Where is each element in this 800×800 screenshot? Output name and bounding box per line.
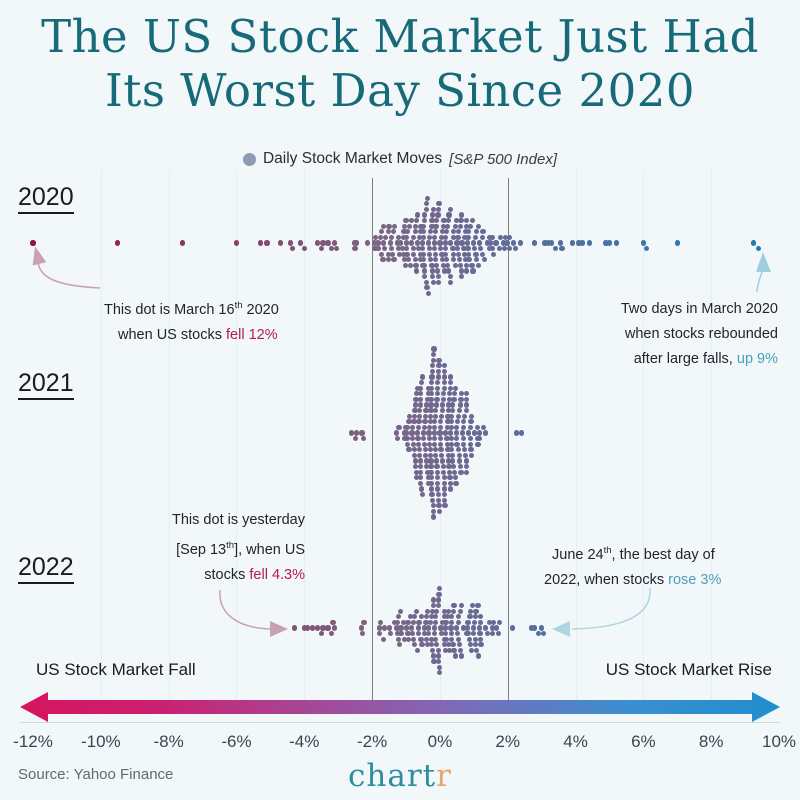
- swarm-dot-2022: [433, 620, 438, 625]
- swarm-dot-2021: [477, 436, 482, 441]
- swarm-dot-2021: [469, 414, 474, 419]
- swarm-dot-2022: [456, 614, 461, 619]
- swarm-dot-2021: [442, 503, 447, 508]
- band-line: [101, 170, 102, 715]
- swarm-dot-2021: [443, 430, 448, 435]
- swarm-dot-2022: [410, 631, 415, 636]
- swarm-dot-2021: [405, 442, 410, 447]
- swarm-dot-2021: [452, 391, 457, 396]
- swarm-dot-2021: [455, 419, 460, 424]
- swarm-dot-2022: [497, 620, 502, 625]
- swarm-dot-2020: [433, 229, 438, 234]
- swarm-dot-2020: [580, 240, 585, 245]
- swarm-dot-2021: [448, 486, 453, 491]
- swarm-dot-2021: [433, 408, 438, 413]
- swarm-dot-2022: [449, 614, 454, 619]
- swarm-dot-2020: [422, 274, 427, 279]
- swarm-dot-2021: [448, 481, 453, 486]
- swarm-dot-2022: [443, 620, 448, 625]
- axis-tick-neg10pct: -10%: [81, 732, 121, 752]
- swarm-dot-2020: [434, 218, 439, 223]
- swarm-dot-2022: [456, 637, 461, 642]
- swarm-dot-2021: [419, 486, 424, 491]
- swarm-dot-2020: [504, 240, 509, 245]
- swarm-dot-2020: [319, 246, 324, 251]
- swarm-dot-2022: [456, 620, 461, 625]
- swarm-dot-2021: [435, 486, 440, 491]
- swarm-dot-2021: [432, 419, 437, 424]
- swarm-dot-2022: [467, 637, 472, 642]
- swarm-dot-2022: [466, 620, 471, 625]
- swarm-dot-2020: [352, 246, 357, 251]
- swarm-dot-2020: [466, 229, 471, 234]
- swarm-dot-2020: [422, 218, 427, 223]
- annotation-rebound-line3: after large falls,: [634, 351, 737, 367]
- swarm-dot-2022: [434, 609, 439, 614]
- swarm-dot-2022: [470, 603, 475, 608]
- swarm-dot-2021: [435, 386, 440, 391]
- swarm-dot-2021: [436, 358, 441, 363]
- swarm-dot-2022: [453, 653, 458, 658]
- swarm-dot-2022: [477, 625, 482, 630]
- swarm-dot-2020: [456, 252, 461, 257]
- swarm-dot-2022: [433, 637, 438, 642]
- swarm-dot-2020: [507, 246, 512, 251]
- swarm-dot-2020: [426, 240, 431, 245]
- swarm-dot-2022: [471, 631, 476, 636]
- swarm-dot-2022: [397, 642, 402, 647]
- swarm-dot-2021: [419, 380, 424, 385]
- swarm-dot-2020: [180, 240, 185, 245]
- swarm-dot-2020: [414, 268, 419, 273]
- swarm-dot-2022: [325, 625, 330, 630]
- swarm-dot-2021: [453, 386, 458, 391]
- swarm-dot-2021: [454, 436, 459, 441]
- reference-line--2: [372, 178, 373, 708]
- swarm-dot-2020: [325, 240, 330, 245]
- swarm-dot-2022: [388, 631, 393, 636]
- annotation-yesterday-line1: This dot is yesterday: [150, 508, 305, 533]
- swarm-dot-2020: [389, 246, 394, 251]
- swarm-dot-2020: [421, 263, 426, 268]
- swarm-dot-2022: [415, 648, 420, 653]
- swarm-dot-2021: [418, 464, 423, 469]
- swarm-dot-2021: [461, 425, 466, 430]
- swarm-dot-2020: [334, 246, 339, 251]
- swarm-dot-2022: [409, 625, 414, 630]
- swarm-dot-2020: [477, 240, 482, 245]
- swarm-dot-2020: [445, 263, 450, 268]
- axis-tick-8pct: 8%: [699, 732, 724, 752]
- swarm-dot-2021: [477, 430, 482, 435]
- swarm-dot-2021: [418, 470, 423, 475]
- swarm-dot-2022: [329, 631, 334, 636]
- swarm-dot-2021: [441, 391, 446, 396]
- swarm-dot-2020: [507, 235, 512, 240]
- swarm-dot-2022: [478, 614, 483, 619]
- swarm-dot-2020: [756, 246, 761, 251]
- swarm-dot-2022: [432, 625, 437, 630]
- swarm-dot-2021: [447, 391, 452, 396]
- swarm-dot-2020: [264, 240, 269, 245]
- chartr-logo-main: chart: [348, 758, 436, 794]
- swarm-dot-2022: [494, 625, 499, 630]
- swarm-dot-2020: [473, 235, 478, 240]
- swarm-dot-2021: [456, 447, 461, 452]
- swarm-dot-2021: [418, 386, 423, 391]
- swarm-dot-2020: [421, 252, 426, 257]
- swarm-dot-2022: [359, 625, 364, 630]
- swarm-dot-2022: [465, 625, 470, 630]
- swarm-dot-2021: [456, 414, 461, 419]
- swarm-dot-2020: [473, 252, 478, 257]
- swarm-dot-2022: [451, 603, 456, 608]
- direction-label-fall: US Stock Market Fall: [36, 660, 196, 680]
- band-line: [576, 170, 577, 715]
- swarm-dot-2020: [493, 240, 498, 245]
- swarm-dot-2020: [466, 257, 471, 262]
- swarm-dot-2021: [431, 503, 436, 508]
- swarm-dot-2021: [450, 408, 455, 413]
- swarm-dot-2020: [480, 252, 485, 257]
- swarm-dot-2021: [422, 419, 427, 424]
- swarm-dot-2021: [454, 442, 459, 447]
- annotation-march-16-line1: This dot is March 16: [104, 302, 235, 318]
- swarm-dot-2020: [446, 218, 451, 223]
- swarm-dot-2020: [751, 240, 756, 245]
- swarm-dot-2021: [421, 430, 426, 435]
- swarm-dot-2020: [406, 257, 411, 262]
- swarm-dot-2021: [461, 419, 466, 424]
- swarm-dot-2020: [388, 240, 393, 245]
- swarm-dot-2021: [442, 386, 447, 391]
- swarm-dot-2020: [379, 252, 384, 257]
- swarm-dot-2020: [424, 280, 429, 285]
- swarm-dot-2021: [422, 425, 427, 430]
- reference-line-2: [508, 178, 509, 708]
- swarm-dot-2020: [390, 252, 395, 257]
- swarm-dot-2020: [641, 240, 646, 245]
- swarm-dot-2022: [458, 609, 463, 614]
- swarm-dot-2022: [319, 631, 324, 636]
- annotation-yesterday-line3: stocks: [204, 567, 249, 583]
- swarm-dot-2020: [414, 218, 419, 223]
- swarm-dot-2021: [442, 363, 447, 368]
- swarm-dot-2021: [442, 486, 447, 491]
- annotation-june-24: June 24th, the best day of 2022, when st…: [552, 538, 721, 593]
- swarm-dot-2021: [421, 436, 426, 441]
- swarm-dot-2021: [460, 430, 465, 435]
- swarm-dot-2021: [418, 402, 423, 407]
- swarm-dot-2021: [433, 414, 438, 419]
- swarm-dot-2022: [396, 637, 401, 642]
- swarm-dot-2021: [469, 453, 474, 458]
- swarm-dot-2021: [442, 374, 447, 379]
- swarm-dot-2021: [418, 481, 423, 486]
- swarm-dot-2020: [415, 240, 420, 245]
- swarm-dot-2021: [468, 419, 473, 424]
- swarm-dot-2020: [437, 240, 442, 245]
- swarm-dot-2020: [30, 240, 35, 245]
- swarm-dot-2020: [278, 240, 283, 245]
- swarm-dot-2020: [464, 218, 469, 223]
- swarm-dot-2020: [421, 257, 426, 262]
- swarm-dot-2020: [408, 263, 413, 268]
- swarm-dot-2021: [454, 430, 459, 435]
- swarm-dot-2020: [415, 212, 420, 217]
- swarm-dot-2020: [498, 235, 503, 240]
- swarm-dot-2021: [442, 481, 447, 486]
- swarm-dot-2022: [377, 631, 382, 636]
- swarm-dot-2020: [425, 196, 430, 201]
- swarm-dot-2020: [474, 229, 479, 234]
- swarm-dot-2020: [427, 252, 432, 257]
- swarm-dot-2022: [455, 631, 460, 636]
- swarm-dot-2022: [450, 642, 455, 647]
- swarm-dot-2021: [464, 470, 469, 475]
- swarm-dot-2020: [392, 224, 397, 229]
- swarm-dot-2020: [570, 240, 575, 245]
- axis-tick-2pct: 2%: [495, 732, 520, 752]
- swarm-dot-2021: [468, 425, 473, 430]
- annotation-yesterday: This dot is yesterday [Sep 13th], when U…: [150, 508, 305, 588]
- swarm-dot-2020: [549, 240, 554, 245]
- swarm-dot-2020: [443, 240, 448, 245]
- annotation-yesterday-line2: [Sep 13: [176, 542, 226, 558]
- swarm-dot-2022: [437, 665, 442, 670]
- swarm-dot-2021: [416, 442, 421, 447]
- swarm-dot-2021: [432, 430, 437, 435]
- swarm-dot-2021: [442, 369, 447, 374]
- swarm-dot-2021: [430, 498, 435, 503]
- swarm-dot-2020: [444, 229, 449, 234]
- swarm-dot-2020: [398, 240, 403, 245]
- swarm-dot-2020: [607, 240, 612, 245]
- swarm-dot-2020: [383, 235, 388, 240]
- swarm-dot-2020: [465, 246, 470, 251]
- annotation-yesterday-line2b: ], when US: [234, 542, 305, 558]
- swarm-dot-2020: [298, 240, 303, 245]
- swarm-dot-2021: [447, 470, 452, 475]
- swarm-dot-2022: [398, 609, 403, 614]
- swarm-dot-2021: [429, 475, 434, 480]
- swarm-dot-2020: [332, 240, 337, 245]
- swarm-dot-2022: [458, 648, 463, 653]
- swarm-dot-2020: [558, 240, 563, 245]
- swarm-dot-2020: [451, 257, 456, 262]
- annotation-june-24-highlight: rose 3%: [668, 572, 721, 588]
- swarm-dot-2021: [417, 447, 422, 452]
- swarm-dot-2021: [454, 425, 459, 430]
- swarm-dot-2021: [418, 397, 423, 402]
- swarm-dot-2020: [258, 240, 263, 245]
- swarm-dot-2020: [404, 235, 409, 240]
- swarm-dot-2021: [429, 380, 434, 385]
- swarm-dot-2021: [461, 442, 466, 447]
- swarm-dot-2020: [458, 218, 463, 223]
- swarm-dot-2022: [387, 625, 392, 630]
- swarm-dot-2020: [434, 263, 439, 268]
- swarm-dot-2022: [467, 614, 472, 619]
- swarm-dot-2020: [379, 229, 384, 234]
- swarm-dot-2021: [416, 425, 421, 430]
- swarm-dot-2020: [391, 229, 396, 234]
- swarm-dot-2022: [395, 620, 400, 625]
- swarm-dot-2020: [382, 246, 387, 251]
- swarm-dot-2022: [476, 653, 481, 658]
- swarm-dot-2020: [234, 240, 239, 245]
- swarm-dot-2020: [532, 240, 537, 245]
- swarm-dot-2020: [420, 240, 425, 245]
- swarm-dot-2021: [475, 442, 480, 447]
- swarm-dot-2020: [464, 263, 469, 268]
- swarm-dot-2022: [411, 637, 416, 642]
- swarm-dot-2021: [434, 458, 439, 463]
- swarm-dot-2022: [292, 625, 297, 630]
- swarm-dot-2022: [483, 625, 488, 630]
- swarm-dot-2021: [435, 470, 440, 475]
- swarm-dot-2022: [436, 648, 441, 653]
- swarm-dot-2021: [463, 453, 468, 458]
- swarm-dot-2021: [429, 386, 434, 391]
- swarm-dot-2020: [421, 224, 426, 229]
- swarm-dot-2022: [436, 592, 441, 597]
- swarm-dot-2020: [443, 252, 448, 257]
- swarm-dot-2020: [455, 246, 460, 251]
- swarm-dot-2021: [418, 391, 423, 396]
- swarm-dot-2020: [518, 240, 523, 245]
- swarm-dot-2021: [396, 425, 401, 430]
- swarm-dot-2020: [420, 246, 425, 251]
- band-line: [643, 170, 644, 715]
- swarm-dot-2021: [410, 436, 415, 441]
- swarm-dot-2020: [470, 218, 475, 223]
- swarm-dot-2020: [354, 240, 359, 245]
- swarm-dot-2021: [453, 475, 458, 480]
- swarm-dot-2021: [458, 397, 463, 402]
- swarm-dot-2022: [443, 631, 448, 636]
- swarm-dot-2021: [426, 430, 431, 435]
- swarm-dot-2021: [458, 464, 463, 469]
- annotation-rebound-line1: Two days in March 2020: [621, 297, 778, 322]
- swarm-dot-2022: [471, 625, 476, 630]
- annotation-march-16: This dot is March 16th 2020 when US stoc…: [104, 293, 279, 348]
- swarm-dot-2020: [302, 246, 307, 251]
- swarm-dot-2020: [436, 280, 441, 285]
- swarm-dot-2021: [429, 486, 434, 491]
- swarm-dot-2020: [424, 201, 429, 206]
- swarm-dot-2020: [411, 235, 416, 240]
- swarm-dot-2021: [409, 430, 414, 435]
- swarm-dot-2021: [442, 492, 447, 497]
- swarm-dot-2020: [459, 268, 464, 273]
- swarm-dot-2020: [115, 240, 120, 245]
- annotation-rebound-line2: when stocks rebounded: [621, 322, 778, 347]
- swarm-dot-2020: [459, 212, 464, 217]
- swarm-dot-2021: [449, 442, 454, 447]
- swarm-dot-2021: [420, 492, 425, 497]
- swarm-dot-2020: [476, 224, 481, 229]
- swarm-dot-2020: [471, 240, 476, 245]
- swarm-dot-2021: [417, 414, 422, 419]
- swarm-dot-2021: [449, 425, 454, 430]
- swarm-dot-2021: [417, 453, 422, 458]
- swarm-dot-2020: [404, 252, 409, 257]
- swarm-dot-2021: [464, 391, 469, 396]
- swarm-dot-2022: [541, 631, 546, 636]
- swarm-dot-2020: [444, 257, 449, 262]
- swarm-dot-2020: [490, 246, 495, 251]
- swarm-dot-2021: [359, 430, 364, 435]
- swarm-dot-2021: [481, 425, 486, 430]
- swarm-dot-2021: [438, 442, 443, 447]
- swarm-dot-2022: [414, 609, 419, 614]
- swarm-dot-2021: [430, 369, 435, 374]
- swarm-dot-2022: [332, 625, 337, 630]
- swarm-dot-2021: [464, 402, 469, 407]
- swarm-dot-2022: [430, 648, 435, 653]
- swarm-dot-2020: [480, 229, 485, 234]
- swarm-dot-2020: [587, 240, 592, 245]
- swarm-dot-2021: [434, 397, 439, 402]
- swarm-dot-2022: [496, 631, 501, 636]
- swarm-dot-2020: [375, 240, 380, 245]
- swarm-dot-2021: [457, 453, 462, 458]
- swarm-dot-2022: [448, 625, 453, 630]
- swarm-dot-2020: [465, 240, 470, 245]
- swarm-dot-2021: [431, 509, 436, 514]
- band-line: [236, 170, 237, 715]
- swarm-dot-2021: [429, 492, 434, 497]
- swarm-dot-2021: [458, 402, 463, 407]
- direction-label-rise: US Stock Market Rise: [606, 660, 772, 680]
- swarm-dot-2022: [405, 620, 410, 625]
- swarm-dot-2022: [378, 620, 383, 625]
- swarm-dot-2021: [464, 408, 469, 413]
- swarm-dot-2020: [436, 274, 441, 279]
- swarm-dot-2022: [539, 625, 544, 630]
- swarm-dot-2021: [436, 503, 441, 508]
- swarm-dot-2021: [436, 374, 441, 379]
- swarm-dot-2021: [429, 481, 434, 486]
- swarm-dot-2020: [443, 235, 448, 240]
- swarm-dot-2022: [412, 642, 417, 647]
- swarm-dot-2022: [434, 642, 439, 647]
- swarm-dot-2021: [441, 464, 446, 469]
- swarm-dot-2020: [513, 246, 518, 251]
- swarm-dot-2020: [446, 212, 451, 217]
- swarm-dot-2021: [457, 408, 462, 413]
- swarm-dot-2021: [464, 397, 469, 402]
- swarm-dot-2020: [409, 240, 414, 245]
- swarm-dot-2020: [465, 235, 470, 240]
- swarm-dot-2021: [431, 514, 436, 519]
- swarm-dot-2021: [519, 430, 524, 435]
- swarm-dot-2020: [433, 257, 438, 262]
- swarm-dot-2021: [415, 430, 420, 435]
- swarm-dot-2022: [491, 620, 496, 625]
- swarm-dot-2021: [464, 464, 469, 469]
- band-line: [711, 170, 712, 715]
- swarm-dot-2021: [461, 436, 466, 441]
- swarm-dot-2020: [457, 257, 462, 262]
- swarm-dot-2021: [442, 498, 447, 503]
- year-label-2022: 2022: [18, 554, 74, 584]
- year-label-2021: 2021: [18, 370, 74, 400]
- swarm-dot-2020: [446, 268, 451, 273]
- swarm-dot-2021: [417, 408, 422, 413]
- swarm-dot-2021: [418, 458, 423, 463]
